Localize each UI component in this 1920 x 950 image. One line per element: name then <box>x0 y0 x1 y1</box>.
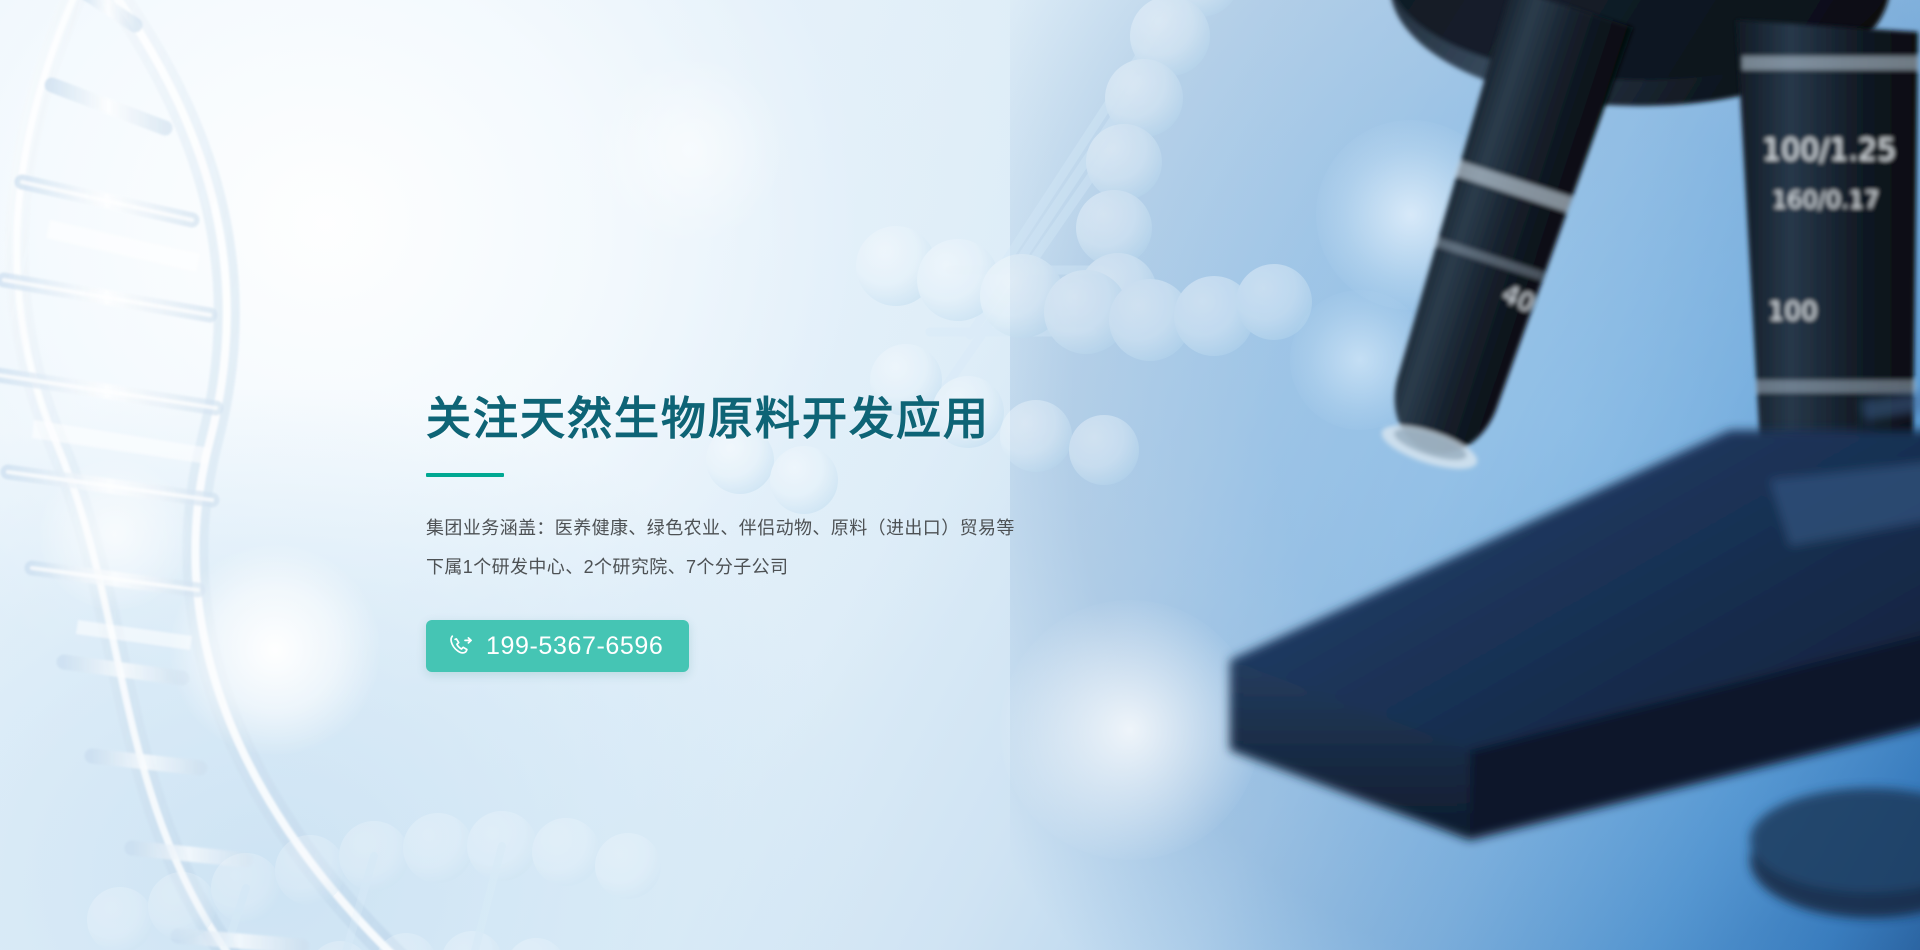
page-title: 关注天然生物原料开发应用 <box>426 392 1206 445</box>
microscope-image: 40 100/1.25 160/0.17 100 <box>1170 0 1920 950</box>
svg-text:100/1.25: 100/1.25 <box>1762 133 1896 168</box>
phone-outgoing-icon <box>448 633 474 659</box>
hero-description-line-2: 下属1个研发中心、2个研究院、7个分子公司 <box>426 548 1206 587</box>
hero-description: 集团业务涵盖：医养健康、绿色农业、伴侣动物、原料（进出口）贸易等 下属1个研发中… <box>426 477 1206 586</box>
bokeh-light-spot <box>40 460 190 610</box>
svg-text:160/0.17: 160/0.17 <box>1772 186 1879 214</box>
phone-number-label: 199-5367-6596 <box>486 634 663 659</box>
hero-banner: 40 100/1.25 160/0.17 100 <box>0 0 1920 950</box>
svg-text:100: 100 <box>1768 297 1818 327</box>
hero-content: 关注天然生物原料开发应用 集团业务涵盖：医养健康、绿色农业、伴侣动物、原料（进出… <box>426 392 1206 672</box>
phone-cta-button[interactable]: 199-5367-6596 <box>426 620 689 672</box>
bokeh-light-spot <box>1316 120 1506 310</box>
bokeh-light-spot <box>600 60 780 240</box>
svg-text:40: 40 <box>1498 279 1539 318</box>
hero-description-line-1: 集团业务涵盖：医养健康、绿色农业、伴侣动物、原料（进出口）贸易等 <box>426 509 1206 548</box>
bokeh-light-spot <box>1290 290 1430 430</box>
bokeh-light-spot <box>170 545 380 755</box>
